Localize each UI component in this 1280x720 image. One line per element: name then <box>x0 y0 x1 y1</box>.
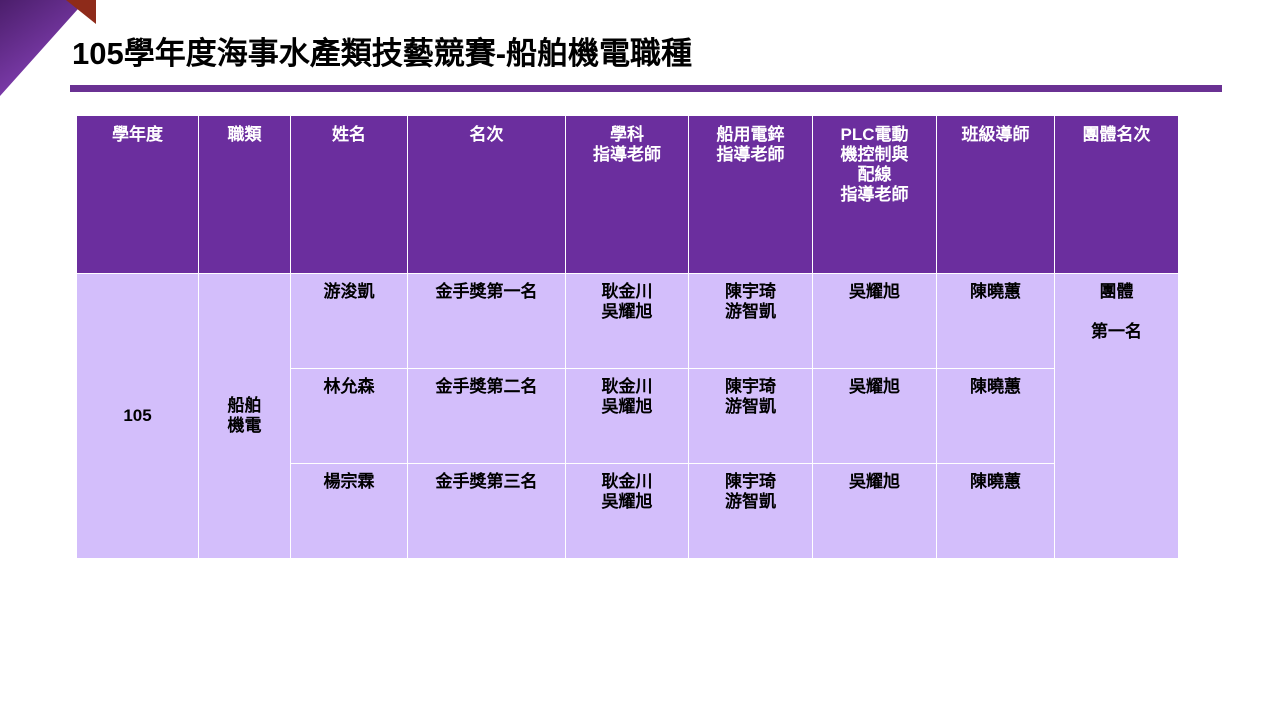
column-header-plc-teacher: PLC電動 機控制與 配線 指導老師 <box>813 116 937 274</box>
cell-rank: 金手獎第三名 <box>408 464 566 559</box>
column-header-academic-teacher: 學科 指導老師 <box>566 116 689 274</box>
teacher-line: 耿金川 <box>566 377 688 397</box>
cell-rank: 金手獎第二名 <box>408 369 566 464</box>
table-header-row: 學年度 職類 姓名 名次 學科 指導老師 船用電錊 指導老師 PLC電動 機控制… <box>77 116 1179 274</box>
teacher-line: 游智凱 <box>689 492 812 512</box>
teacher-line: 耿金川 <box>566 472 688 492</box>
corner-accent-triangle <box>66 0 96 24</box>
cell-class-teacher: 陳曉蕙 <box>937 274 1055 369</box>
header-line: 指導老師 <box>566 145 688 165</box>
teacher-line: 吳耀旭 <box>566 492 688 512</box>
page-title: 105學年度海事水產類技藝競賽-船舶機電職種 <box>72 28 692 73</box>
cell-school-year: 105 <box>77 274 199 559</box>
teacher-line: 陳宇琦 <box>689 377 812 397</box>
column-header-name: 姓名 <box>291 116 408 274</box>
teacher-line: 吳耀旭 <box>566 397 688 417</box>
cell-welding-teacher: 陳宇琦 游智凱 <box>689 274 813 369</box>
cell-rank: 金手獎第一名 <box>408 274 566 369</box>
column-header-marine-welding-teacher: 船用電錊 指導老師 <box>689 116 813 274</box>
category-line: 機電 <box>199 416 290 436</box>
cell-welding-teacher: 陳宇琦 游智凱 <box>689 369 813 464</box>
header-line: 船用電錊 <box>689 125 812 145</box>
cell-student-name: 游浚凱 <box>291 274 408 369</box>
teacher-line: 游智凱 <box>689 397 812 417</box>
team-rank-line: 第一名 <box>1055 322 1178 342</box>
header-line: 學科 <box>566 125 688 145</box>
cell-student-name: 楊宗霖 <box>291 464 408 559</box>
header-line: 職類 <box>199 125 290 145</box>
title-underline-rule <box>70 85 1222 92</box>
header-line: 機控制與 <box>813 145 936 165</box>
header-line: 指導老師 <box>813 185 936 205</box>
cell-welding-teacher: 陳宇琦 游智凱 <box>689 464 813 559</box>
header-line: 指導老師 <box>689 145 812 165</box>
column-header-rank: 名次 <box>408 116 566 274</box>
header-line: 學年度 <box>77 125 198 145</box>
teacher-line: 耿金川 <box>566 282 688 302</box>
header-line: 姓名 <box>291 125 407 145</box>
cell-student-name: 林允森 <box>291 369 408 464</box>
column-header-school-year: 學年度 <box>77 116 199 274</box>
teacher-line: 游智凱 <box>689 302 812 322</box>
cell-academic-teacher: 耿金川 吳耀旭 <box>566 274 689 369</box>
column-header-class-teacher: 班級導師 <box>937 116 1055 274</box>
competition-results-table: 學年度 職類 姓名 名次 學科 指導老師 船用電錊 指導老師 PLC電動 機控制… <box>76 115 1179 559</box>
cell-class-teacher: 陳曉蕙 <box>937 369 1055 464</box>
cell-class-teacher: 陳曉蕙 <box>937 464 1055 559</box>
column-header-team-rank: 團體名次 <box>1055 116 1179 274</box>
header-line: 名次 <box>408 125 565 145</box>
cell-academic-teacher: 耿金川 吳耀旭 <box>566 464 689 559</box>
cell-plc-teacher: 吳耀旭 <box>813 274 937 369</box>
teacher-line: 陳宇琦 <box>689 472 812 492</box>
cell-plc-teacher: 吳耀旭 <box>813 464 937 559</box>
column-header-category: 職類 <box>199 116 291 274</box>
header-line: PLC電動 <box>813 125 936 145</box>
header-line: 配線 <box>813 165 936 185</box>
header-line: 班級導師 <box>937 125 1054 145</box>
cell-academic-teacher: 耿金川 吳耀旭 <box>566 369 689 464</box>
teacher-line: 陳宇琦 <box>689 282 812 302</box>
category-line: 船舶 <box>199 396 290 416</box>
cell-category: 船舶 機電 <box>199 274 291 559</box>
teacher-line: 吳耀旭 <box>566 302 688 322</box>
header-line: 團體名次 <box>1055 125 1178 145</box>
table-row: 105 船舶 機電 游浚凱 金手獎第一名 耿金川 吳耀旭 陳宇琦 游智凱 吳耀旭… <box>77 274 1179 369</box>
cell-team-rank: 團體 第一名 <box>1055 274 1179 559</box>
cell-plc-teacher: 吳耀旭 <box>813 369 937 464</box>
team-rank-line: 團體 <box>1055 282 1178 302</box>
